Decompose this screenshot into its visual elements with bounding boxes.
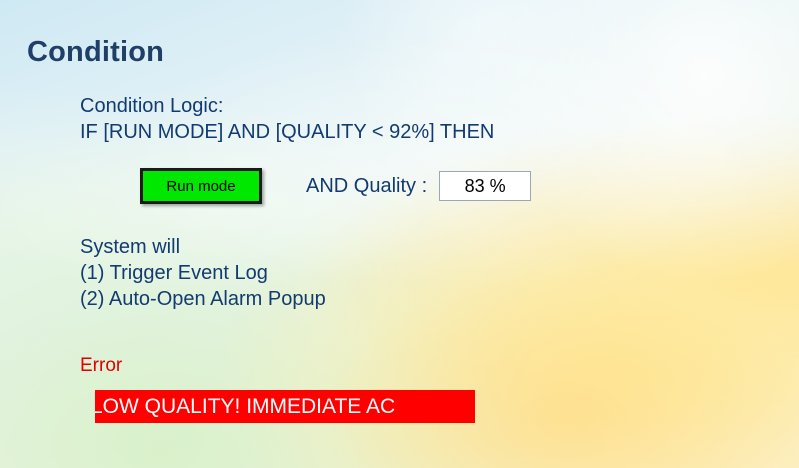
alarm-banner-text: LOW QUALITY! IMMEDIATE AC [95,395,395,419]
quality-label: AND Quality : [306,175,427,198]
error-label: Error [80,355,122,377]
controls-row: Run mode AND Quality : 83 % [140,168,531,204]
condition-logic-expression: IF [RUN MODE] AND [QUALITY < 92%] THEN [80,119,494,145]
application-screen: Condition Condition Logic: IF [RUN MODE]… [0,0,799,468]
system-actions-block: System will (1) Trigger Event Log (2) Au… [80,234,326,312]
alarm-banner: LOW QUALITY! IMMEDIATE AC [95,390,475,423]
system-action-item-1: (1) Trigger Event Log [80,260,326,286]
page-title: Condition [27,36,164,69]
system-action-item-2: (2) Auto-Open Alarm Popup [80,286,326,312]
condition-logic-heading: Condition Logic: [80,93,494,119]
system-actions-heading: System will [80,234,326,260]
quality-value-field[interactable]: 83 % [439,171,531,201]
run-mode-button[interactable]: Run mode [140,168,262,204]
condition-logic-block: Condition Logic: IF [RUN MODE] AND [QUAL… [80,93,494,145]
